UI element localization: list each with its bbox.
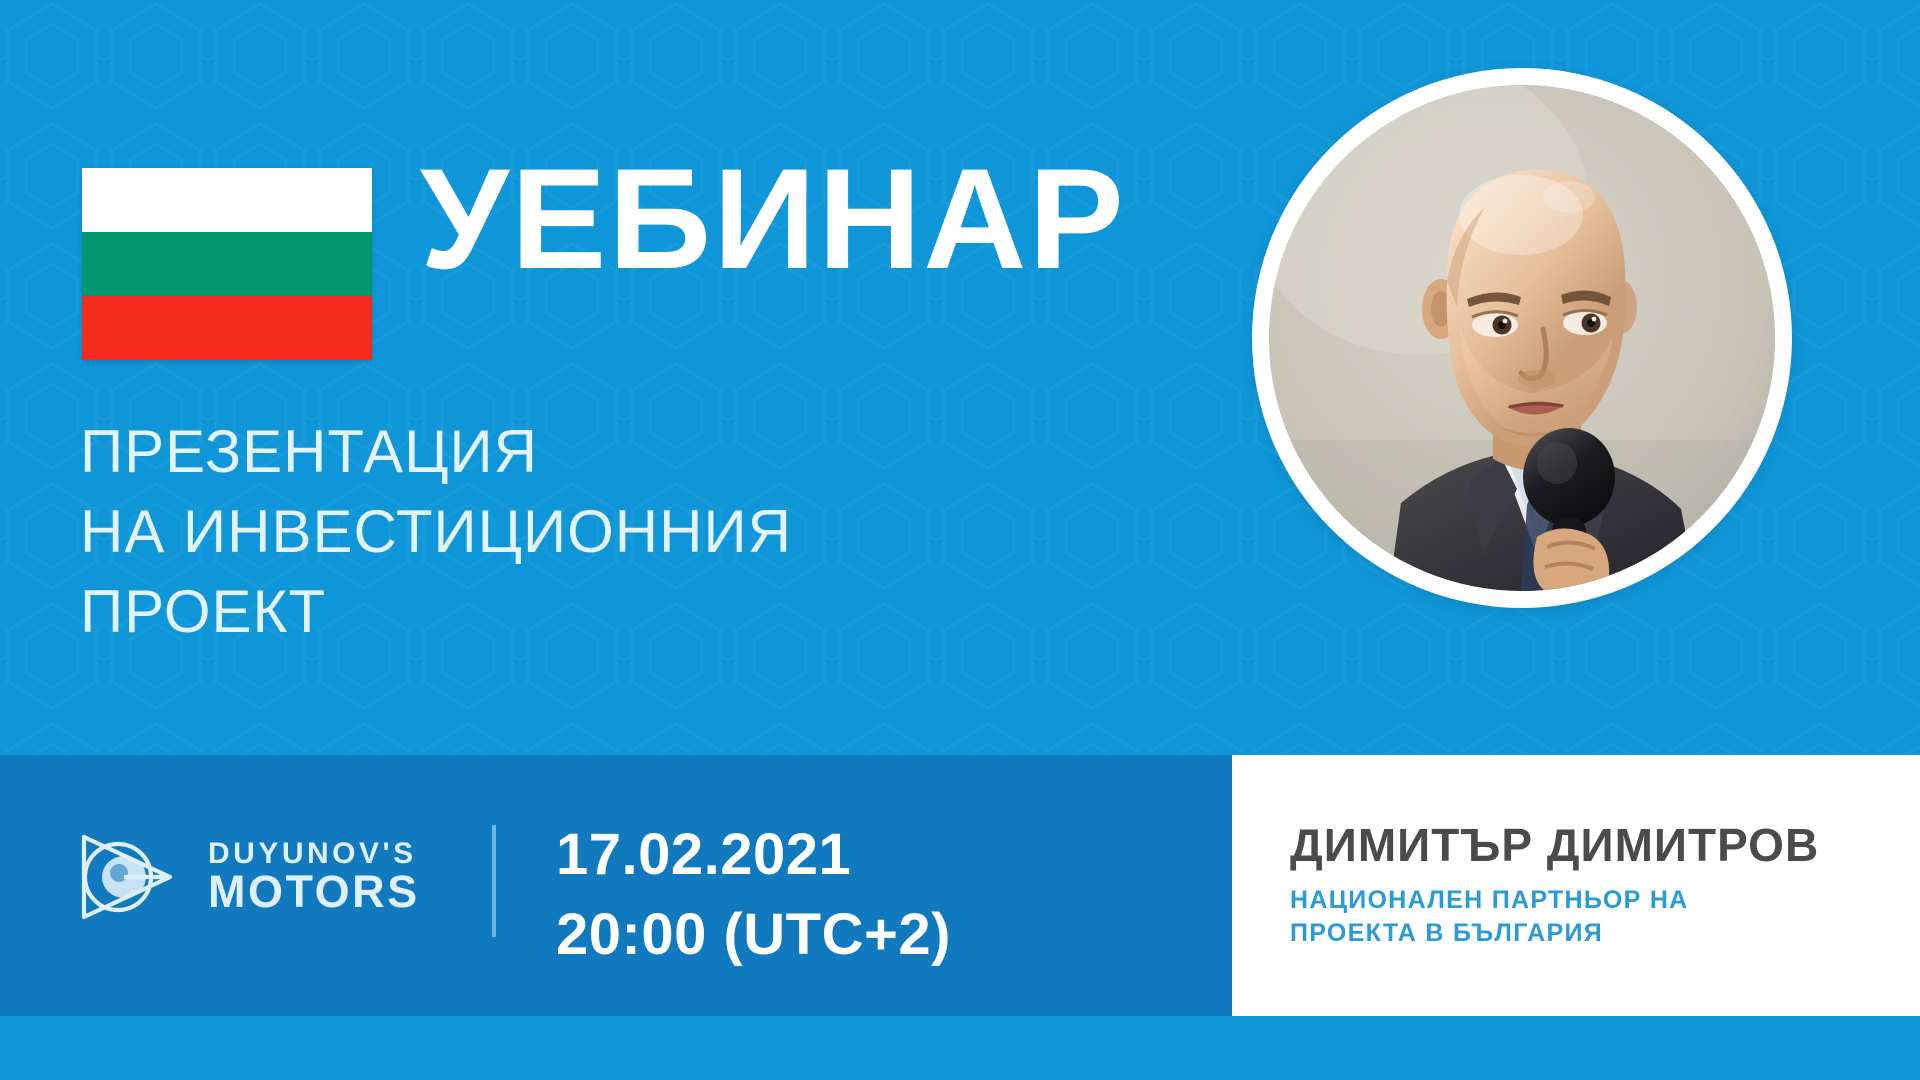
- logo-wordmark: DUYUNOV'S MOTORS: [208, 839, 420, 915]
- speaker-photo-frame: [1252, 68, 1792, 608]
- webinar-banner: УЕБИНАР ПРЕЗЕНТАЦИЯ НА ИНВЕСТИЦИОННИЯ ПР…: [0, 0, 1920, 1080]
- speaker-name: ДИМИТЪР ДИМИТРОВ: [1290, 820, 1920, 871]
- duyunov-motors-logo: DUYUNOV'S MOTORS: [72, 821, 420, 933]
- subtitle-line-2: НА ИНВЕСТИЦИОННИЯ: [80, 492, 792, 572]
- hero-section: УЕБИНАР ПРЕЗЕНТАЦИЯ НА ИНВЕСТИЦИОННИЯ ПР…: [0, 0, 1920, 755]
- background-lower-strip: [0, 1016, 1920, 1080]
- flag-band-red: [82, 296, 372, 360]
- flag-band-white: [82, 168, 372, 232]
- logo-line-1: DUYUNOV'S: [208, 839, 420, 870]
- subtitle-line-1: ПРЕЗЕНТАЦИЯ: [80, 412, 792, 492]
- bulgaria-flag-icon: [82, 168, 372, 360]
- page-title: УЕБИНАР: [420, 148, 1126, 291]
- event-date: 17.02.2021: [556, 815, 951, 895]
- subtitle-line-3: ПРОЕКТ: [80, 572, 792, 652]
- hero-subtitle: ПРЕЗЕНТАЦИЯ НА ИНВЕСТИЦИОННИЯ ПРОЕКТ: [80, 412, 792, 651]
- speaker-role: НАЦИОНАЛЕН ПАРТНЬОР НА ПРОЕКТА В БЪЛГАРИ…: [1290, 884, 1920, 951]
- event-datetime: 17.02.2021 20:00 (UTC+2): [556, 815, 951, 975]
- speaker-role-line-1: НАЦИОНАЛЕН ПАРТНЬОР НА: [1290, 884, 1920, 918]
- duyunov-motors-icon: [72, 821, 184, 933]
- vertical-divider: [492, 825, 496, 937]
- speaker-role-line-2: ПРОЕКТА В БЪЛГАРИЯ: [1290, 917, 1920, 951]
- speaker-photo: [1269, 85, 1775, 591]
- flag-band-green: [82, 232, 372, 296]
- speaker-info-panel: ДИМИТЪР ДИМИТРОВ НАЦИОНАЛЕН ПАРТНЬОР НА …: [1232, 755, 1920, 1016]
- event-time: 20:00 (UTC+2): [556, 895, 951, 975]
- logo-line-2: MOTORS: [208, 869, 420, 915]
